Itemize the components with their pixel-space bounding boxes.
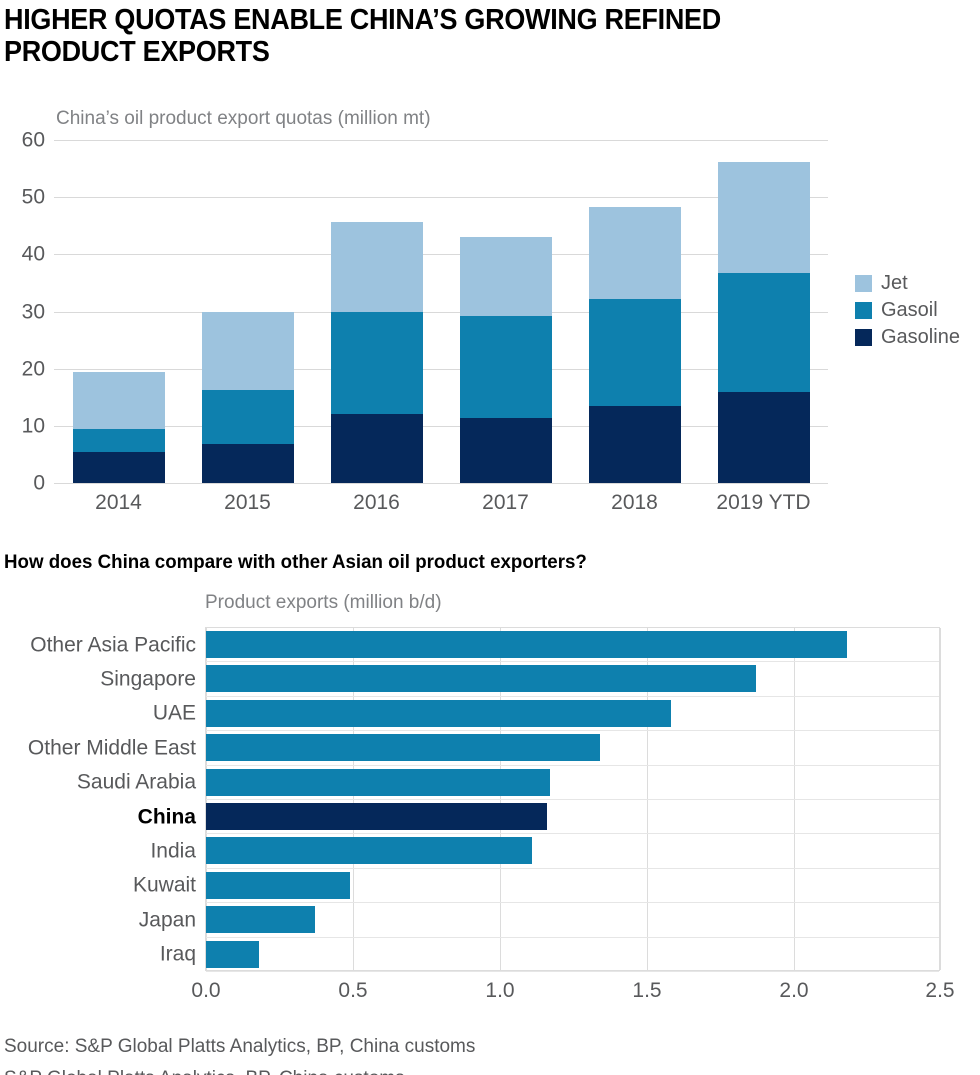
chart2-bar <box>206 837 532 864</box>
chart1-gridline: 10 <box>54 426 828 427</box>
chart1-plot-area: 0102030405060201420152016201720182019 YT… <box>54 140 828 483</box>
chart1-bar-segment-gasoline <box>718 392 810 483</box>
chart2-row: Other Middle East <box>206 731 939 765</box>
chart1-x-tick-label: 2014 <box>59 491 179 515</box>
chart1-gridline: 20 <box>54 369 828 370</box>
chart2-category-label: China <box>138 806 196 827</box>
chart1-y-tick-label: 60 <box>22 130 45 151</box>
source-note: Source: S&P Global Platts Analytics, BP,… <box>4 1036 475 1058</box>
chart1-bar-segment-gasoil <box>718 273 810 391</box>
chart2-category-label: Japan <box>139 909 196 930</box>
chart1-x-tick-label: 2018 <box>575 491 695 515</box>
chart1-bar-segment-gasoline <box>460 418 552 483</box>
chart1-subtitle: China’s oil product export quotas (milli… <box>56 108 431 130</box>
chart1-bar-segment-jet <box>331 222 423 311</box>
chart1-bar: 2015 <box>202 312 294 484</box>
chart1-bar-segment-jet <box>589 207 681 298</box>
chart1-bar: 2019 YTD <box>718 162 810 483</box>
chart1-bar-segment-jet <box>202 312 294 390</box>
chart2-x-tick-label: 0.0 <box>191 979 220 1003</box>
chart1-legend: Jet Gasoil Gasoline <box>855 270 960 351</box>
chart2-bar <box>206 665 756 692</box>
chart2-bar <box>206 872 350 899</box>
chart1-bar: 2014 <box>73 372 165 483</box>
chart2-category-label: Other Asia Pacific <box>30 634 196 655</box>
chart1-gridline: 40 <box>54 254 828 255</box>
chart1-y-tick-label: 30 <box>22 301 45 322</box>
jet-swatch-icon <box>855 275 872 292</box>
chart1-bar-segment-gasoline <box>73 452 165 483</box>
chart1-bar-segment-gasoil <box>331 312 423 414</box>
chart1-bar-segment-gasoline <box>202 444 294 483</box>
chart1-y-tick-label: 40 <box>22 244 45 265</box>
chart1-bar-segment-gasoline <box>331 414 423 483</box>
chart1-bar-segment-gasoline <box>589 406 681 483</box>
chart1-bar-segment-jet <box>73 372 165 430</box>
chart1-x-tick-label: 2016 <box>317 491 437 515</box>
chart1-bar-segment-gasoil <box>460 316 552 418</box>
chart1-gridline: 30 <box>54 312 828 313</box>
chart2-category-label: Iraq <box>160 944 196 965</box>
chart2-row: India <box>206 834 939 868</box>
exporters-bar-chart: Product exports (million b/d) 0.00.51.01… <box>0 592 980 1012</box>
chart2-row: Kuwait <box>206 869 939 903</box>
chart2-bar <box>206 803 547 830</box>
gasoline-swatch-icon <box>855 329 872 346</box>
chart2-row: UAE <box>206 697 939 731</box>
chart2-category-label: Saudi Arabia <box>77 772 196 793</box>
chart2-bar <box>206 734 600 761</box>
chart1-bar-segment-gasoil <box>589 299 681 406</box>
chart2-row: China <box>206 800 939 834</box>
legend-item-gasoil: Gasoil <box>855 297 960 324</box>
chart1-gridline: 60 <box>54 140 828 141</box>
chart2-x-tick-label: 0.5 <box>338 979 367 1003</box>
chart2-subtitle: Product exports (million b/d) <box>205 592 442 614</box>
chart2-x-tick-label: 1.5 <box>632 979 661 1003</box>
legend-label-gasoline: Gasoline <box>881 326 960 349</box>
chart2-x-tick-label: 1.0 <box>485 979 514 1003</box>
chart1-gridline: 0 <box>54 483 828 484</box>
chart1-x-tick-label: 2019 YTD <box>704 491 824 515</box>
chart1-y-tick-label: 50 <box>22 187 45 208</box>
chart1-y-tick-label: 20 <box>22 358 45 379</box>
chart2-category-label: Kuwait <box>133 875 196 896</box>
chart2-row: Singapore <box>206 662 939 696</box>
chart1-x-tick-label: 2015 <box>188 491 308 515</box>
chart2-row: Japan <box>206 903 939 937</box>
legend-item-gasoline: Gasoline <box>855 324 960 351</box>
chart2-row: Other Asia Pacific <box>206 628 939 662</box>
quotas-stacked-bar-chart: China’s oil product export quotas (milli… <box>0 100 980 530</box>
chart2-category-label: UAE <box>153 703 196 724</box>
chart2-bar <box>206 700 671 727</box>
legend-label-gasoil: Gasoil <box>881 299 938 322</box>
chart1-y-tick-label: 10 <box>22 415 45 436</box>
chart2-bar <box>206 631 847 658</box>
chart1-x-tick-label: 2017 <box>446 491 566 515</box>
chart2-bar <box>206 906 315 933</box>
chart2-gridline: 2.5 <box>940 628 941 970</box>
legend-label-jet: Jet <box>881 272 908 295</box>
chart2-category-label: Other Middle East <box>28 737 196 758</box>
source-note-clipped: S&P Global Platts Analytics, BP, China c… <box>4 1068 405 1075</box>
section-question: How does China compare with other Asian … <box>4 551 587 574</box>
chart1-bar: 2018 <box>589 207 681 483</box>
chart1-bar-segment-gasoil <box>73 429 165 451</box>
chart2-x-tick-label: 2.0 <box>779 979 808 1003</box>
chart1-bar: 2017 <box>460 237 552 483</box>
chart2-plot-area: 0.00.51.01.52.02.5Other Asia PacificSing… <box>205 627 940 971</box>
chart2-row: Iraq <box>206 938 939 972</box>
gasoil-swatch-icon <box>855 302 872 319</box>
chart1-bar-segment-gasoil <box>202 390 294 444</box>
page-title: HIGHER QUOTAS ENABLE CHINA’S GROWING REF… <box>4 4 841 68</box>
legend-item-jet: Jet <box>855 270 960 297</box>
chart2-bar <box>206 941 259 968</box>
chart1-bar: 2016 <box>331 222 423 483</box>
chart2-x-tick-label: 2.5 <box>925 979 954 1003</box>
chart1-gridline: 50 <box>54 197 828 198</box>
chart2-category-label: Singapore <box>100 669 196 690</box>
chart2-bar <box>206 769 550 796</box>
chart1-bar-segment-jet <box>718 162 810 273</box>
chart2-category-label: India <box>150 841 196 862</box>
chart1-y-tick-label: 0 <box>33 473 45 494</box>
chart1-bar-segment-jet <box>460 237 552 316</box>
chart2-row: Saudi Arabia <box>206 766 939 800</box>
